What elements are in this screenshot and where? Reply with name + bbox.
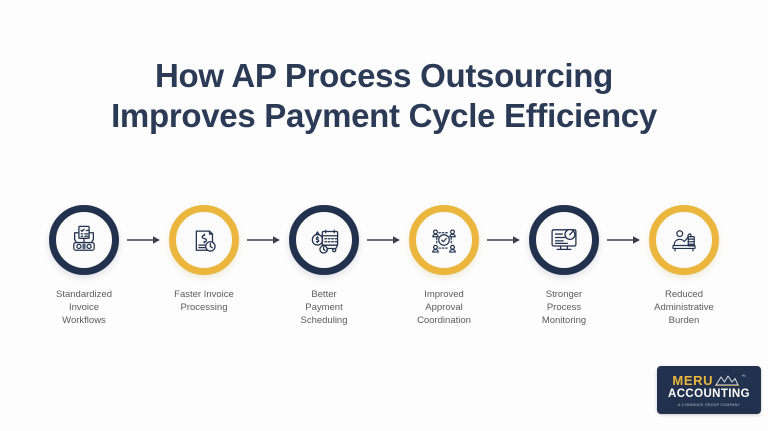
title-line-2: Improves Payment Cycle Efficiency bbox=[0, 96, 768, 136]
step-label-1: Standardized Invoice Workflows bbox=[56, 288, 112, 327]
step-circle-1 bbox=[49, 205, 119, 275]
logo-wordmark-top: MERU ™ bbox=[672, 374, 745, 387]
flow-step-better-payment-scheduling: Better Payment Scheduling bbox=[272, 205, 376, 327]
process-flow: Standardized Invoice Workflows bbox=[32, 205, 736, 327]
step-circle-2 bbox=[169, 205, 239, 275]
step-label-3: Better Payment Scheduling bbox=[300, 288, 347, 327]
mountain-peaks-icon bbox=[714, 374, 740, 386]
logo-tagline: A CYBNANCE GROUP COMPANY bbox=[678, 403, 740, 407]
step-label-5: Stronger Process Monitoring bbox=[542, 288, 586, 327]
checklist-workflow-icon bbox=[67, 223, 101, 257]
flow-step-standardized-invoice-workflows: Standardized Invoice Workflows bbox=[32, 205, 136, 327]
step-circle-3 bbox=[289, 205, 359, 275]
logo-trademark: ™ bbox=[741, 375, 746, 380]
flow-step-reduced-administrative-burden: Reduced Administrative Burden bbox=[632, 205, 736, 327]
logo-brand-text: MERU bbox=[672, 374, 713, 387]
relaxed-worker-icon bbox=[667, 223, 701, 257]
logo-brand-sub-text: ACCOUNTING bbox=[668, 388, 750, 400]
infographic-canvas: How AP Process Outsourcing Improves Paym… bbox=[0, 0, 768, 431]
step-label-4: Improved Approval Coordination bbox=[417, 288, 471, 327]
step-circle-4 bbox=[409, 205, 479, 275]
flow-step-stronger-process-monitoring: Stronger Process Monitoring bbox=[512, 205, 616, 327]
title-line-1: How AP Process Outsourcing bbox=[0, 56, 768, 96]
monitor-gauge-icon bbox=[547, 223, 581, 257]
step-label-2: Faster Invoice Processing bbox=[174, 288, 234, 314]
invoice-clock-icon bbox=[187, 223, 221, 257]
step-circle-6 bbox=[649, 205, 719, 275]
brand-logo[interactable]: MERU ™ ACCOUNTING A CYBNANCE GROUP COMPA… bbox=[657, 366, 761, 414]
approval-network-icon bbox=[427, 223, 461, 257]
flow-step-faster-invoice-processing: Faster Invoice Processing bbox=[152, 205, 256, 314]
flow-step-improved-approval-coordination: Improved Approval Coordination bbox=[392, 205, 496, 327]
money-calendar-icon bbox=[307, 223, 341, 257]
step-circle-5 bbox=[529, 205, 599, 275]
page-title: How AP Process Outsourcing Improves Paym… bbox=[0, 56, 768, 136]
step-label-6: Reduced Administrative Burden bbox=[654, 288, 714, 327]
